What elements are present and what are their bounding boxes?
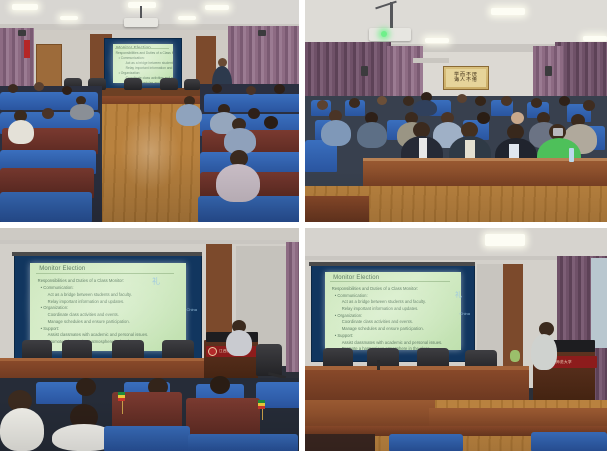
presenter-body [226, 330, 252, 356]
wall-speaker-icon [545, 66, 552, 76]
calligraphy-plaque: 学而不厌诲人不倦 [443, 66, 489, 90]
photo-top-left[interactable]: Monitor Election Responsibilities and Du… [0, 0, 299, 222]
photo-bottom-right[interactable]: Monitor Election Responsibilities and Du… [305, 228, 607, 451]
plaque-text: 学而不厌诲人不倦 [454, 73, 478, 84]
wall-character: 礼 [152, 276, 160, 287]
microphone-icon [377, 360, 380, 370]
ceiling-projector [369, 28, 411, 41]
wall-banner [24, 40, 30, 58]
wall-speaker-icon [18, 30, 26, 36]
projector-mount-icon [390, 2, 393, 28]
stage-table [305, 368, 529, 404]
ceiling-projector [124, 18, 158, 27]
university-seal-icon [208, 347, 217, 356]
projector-lens-icon [381, 31, 387, 37]
presenter-body [531, 334, 557, 370]
wall-speaker-icon [258, 30, 266, 36]
wall-speaker-icon [361, 66, 368, 76]
photo-collage: Monitor Election Responsibilities and Du… [0, 0, 607, 451]
water-bottle [569, 148, 574, 162]
photo-top-right[interactable]: 学而不厌诲人不倦 [305, 0, 607, 222]
photo-bottom-left[interactable]: Monitor Election Responsibilities and Du… [0, 228, 299, 451]
wall-character: 礼 [455, 290, 462, 300]
